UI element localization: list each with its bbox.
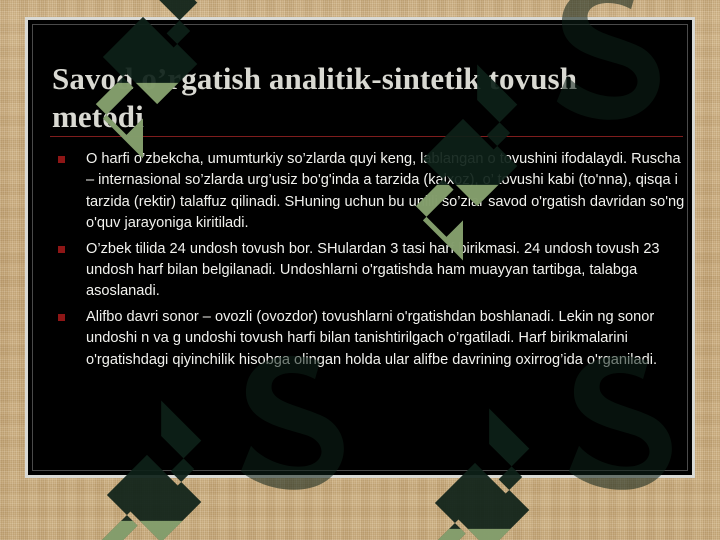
- title-divider-rule: [50, 136, 683, 137]
- slide-frame: Savod o’rgatish analitik-sintetik tovush…: [25, 17, 695, 478]
- bullet-list-item: Alifbo davri sonor – ovozli (ovozdor) to…: [50, 307, 690, 371]
- square-bullet-icon: [58, 246, 65, 253]
- bullet-text: Alifbo davri sonor – ovozli (ovozdor) to…: [86, 307, 690, 371]
- bullet-list-item: O harfi o’zbekcha, umumturkiy so’zlarda …: [50, 149, 690, 235]
- bullet-text: O’zbek tilida 24 undosh tovush bor. SHul…: [86, 239, 690, 303]
- bullet-list-item: O’zbek tilida 24 undosh tovush bor. SHul…: [50, 239, 690, 303]
- bullet-text: O harfi o’zbekcha, umumturkiy so’zlarda …: [86, 149, 690, 235]
- slide-canvas: Savod o’rgatish analitik-sintetik tovush…: [28, 20, 692, 475]
- slide-title: Savod o’rgatish analitik-sintetik tovush…: [52, 60, 672, 136]
- slide-bullet-list: O harfi o’zbekcha, umumturkiy so’zlarda …: [50, 149, 690, 375]
- square-bullet-icon: [58, 156, 65, 163]
- square-bullet-icon: [58, 314, 65, 321]
